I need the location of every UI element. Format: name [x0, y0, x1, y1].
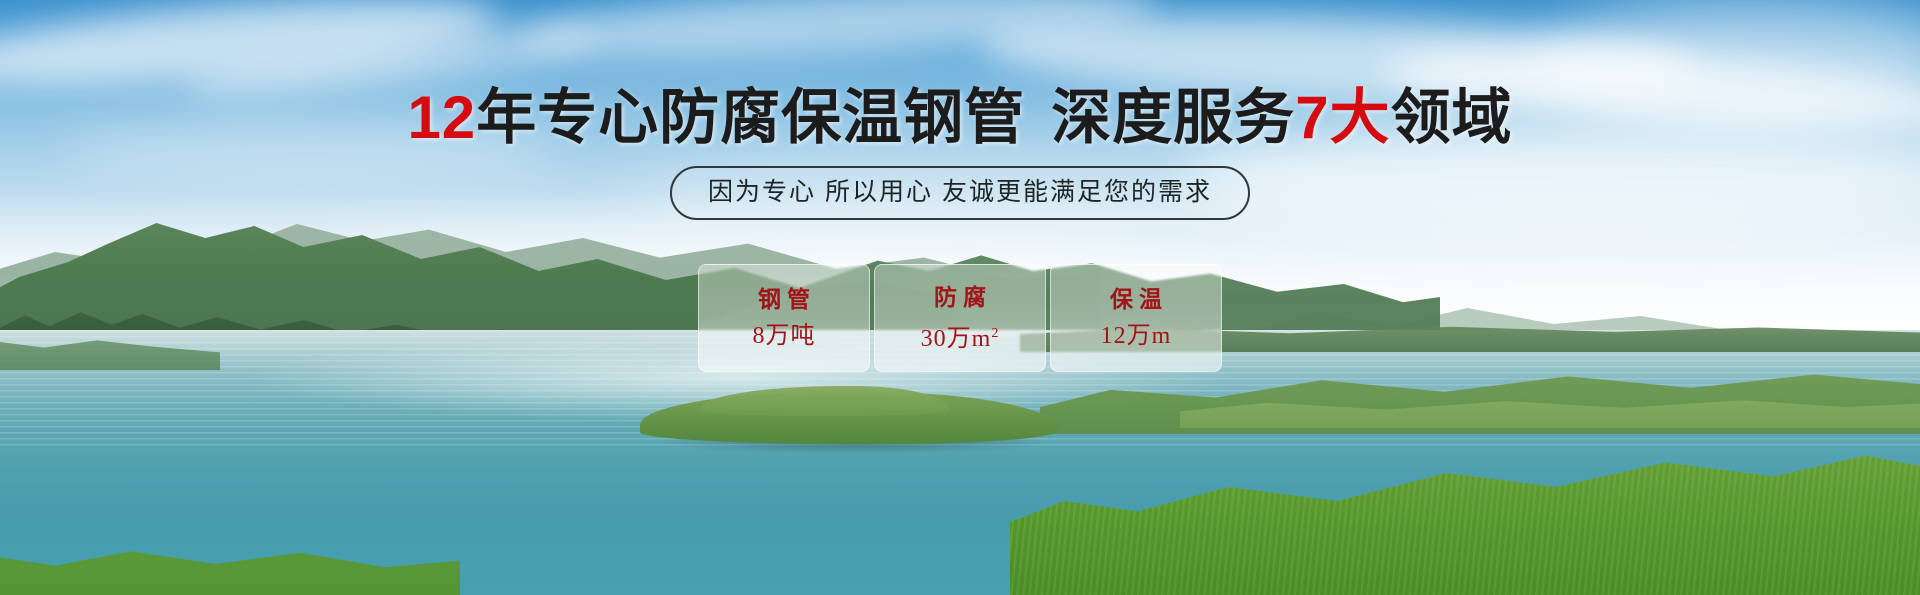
stat-card-value-main: 12万m — [1101, 323, 1172, 349]
stat-card-value-main: 30万m — [921, 326, 992, 352]
subtitle-pill: 因为专心 所以用心 友诚更能满足您的需求 — [670, 166, 1250, 220]
stat-card-label: 钢管 — [752, 287, 816, 311]
headline-years-number: 12 — [407, 84, 476, 151]
stat-card-insulation[interactable]: 保温 12万m — [1050, 264, 1222, 372]
headline: 12年专心防腐保温钢管深度服务7大领域 — [0, 86, 1920, 150]
headline-fields-text: 领域 — [1391, 84, 1513, 151]
headline-fields-number: 7大 — [1295, 84, 1390, 151]
stat-card-value: 8万吨 — [753, 323, 816, 349]
headline-main-text: 年专心防腐保温钢管 — [476, 84, 1025, 151]
stat-card-value: 30万m2 — [921, 321, 1000, 352]
hero-banner: 12年专心防腐保温钢管深度服务7大领域 因为专心 所以用心 友诚更能满足您的需求… — [0, 0, 1920, 595]
headline-service-text: 深度服务 — [1051, 84, 1295, 151]
stat-card-value: 12万m — [1101, 323, 1172, 349]
stat-card-group: 钢管 8万吨 防腐 30万m2 保温 12万m — [0, 264, 1920, 372]
stat-card-value-superscript: 2 — [991, 326, 999, 341]
stat-card-anticorrosion[interactable]: 防腐 30万m2 — [874, 264, 1046, 372]
subtitle-container: 因为专心 所以用心 友诚更能满足您的需求 — [0, 166, 1920, 220]
stat-card-value-main: 8万吨 — [753, 323, 816, 349]
stat-card-steel-pipe[interactable]: 钢管 8万吨 — [698, 264, 870, 372]
stat-card-label: 保温 — [1104, 287, 1168, 311]
stat-card-label: 防腐 — [928, 285, 992, 309]
